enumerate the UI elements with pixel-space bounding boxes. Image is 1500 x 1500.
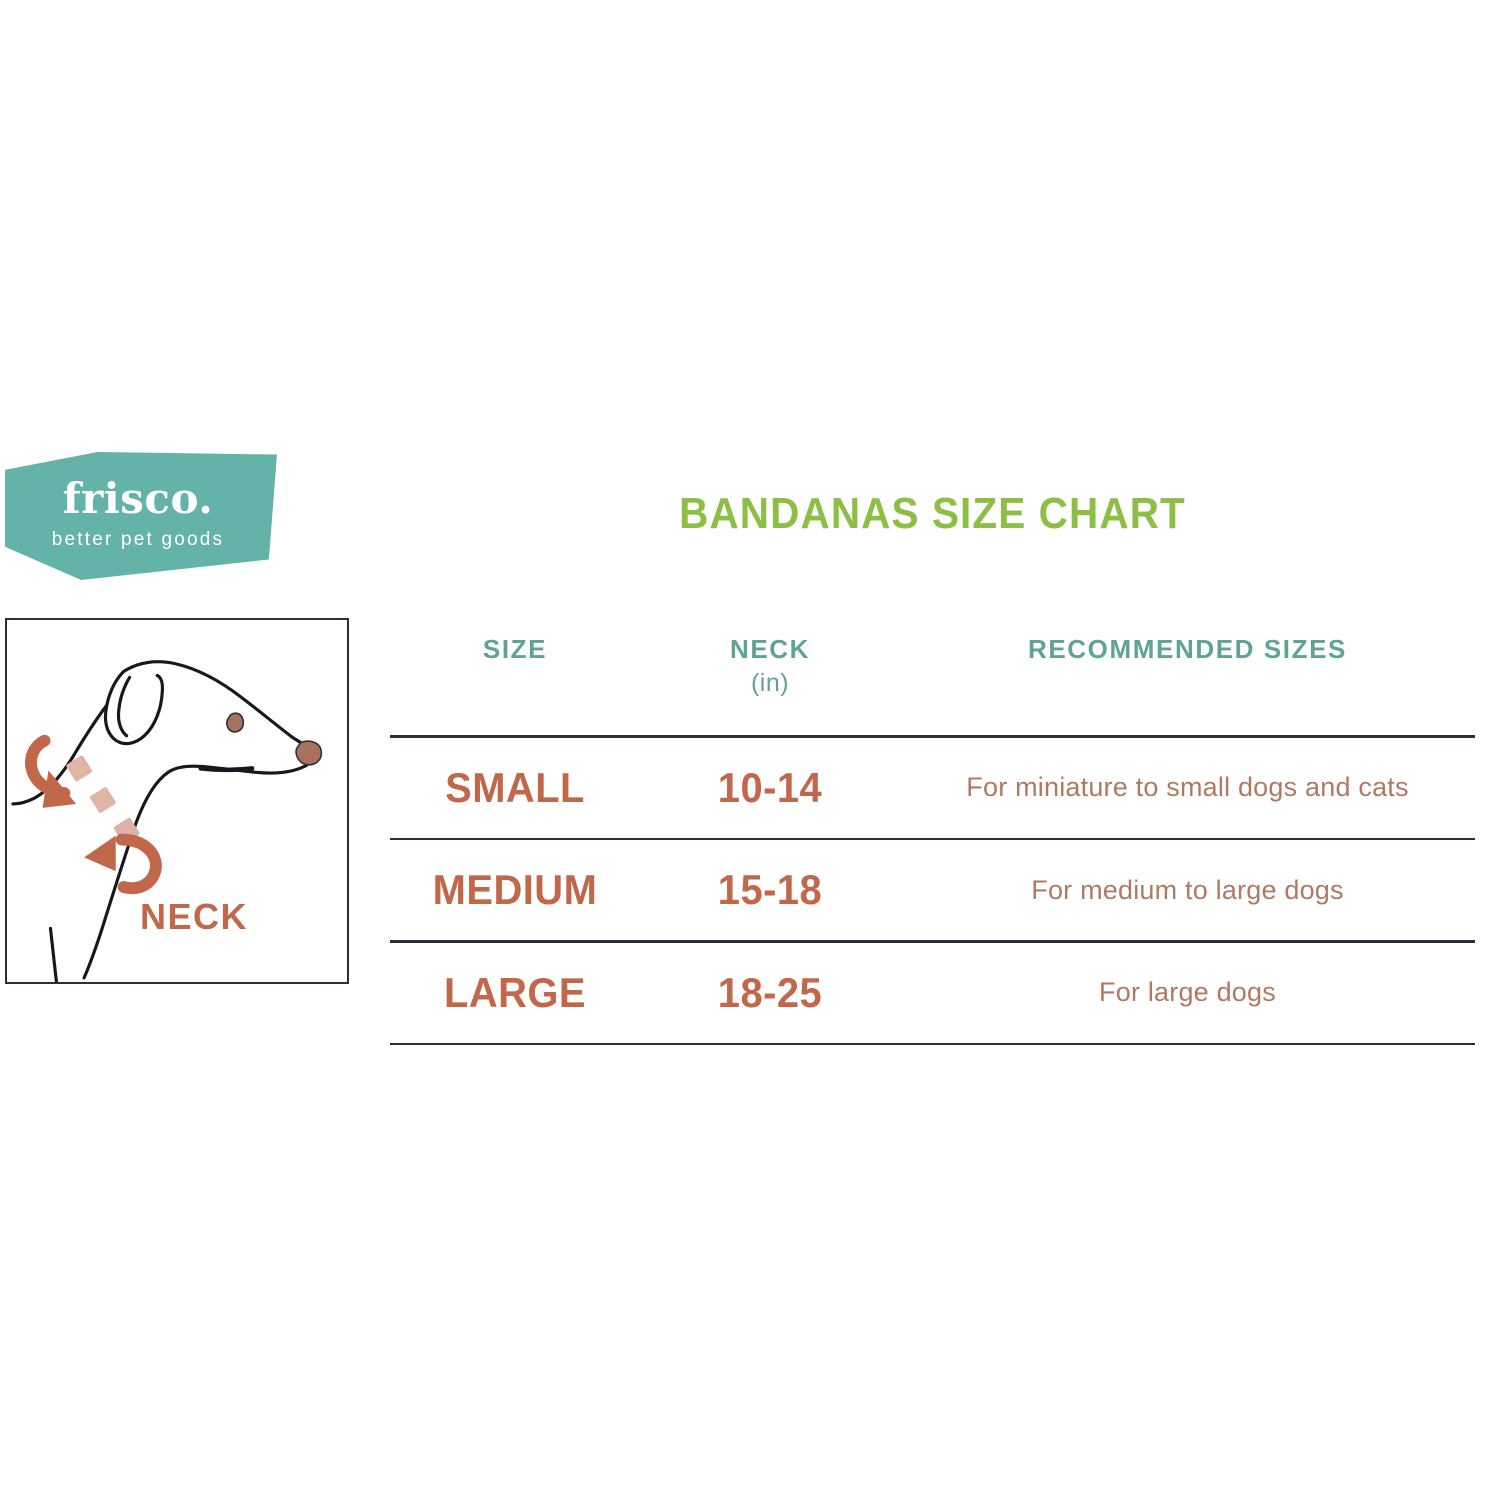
- table-header-row: SIZE NECK (in) RECOMMENDED SIZES: [390, 625, 1475, 735]
- cell-size-small: SMALL: [396, 764, 634, 812]
- table-row: MEDIUM 15-18 For medium to large dogs: [390, 840, 1475, 940]
- cell-neck-medium: 15-18: [647, 866, 894, 914]
- cell-size-large: LARGE: [396, 969, 634, 1017]
- neck-measure-arrowhead-lower: [84, 836, 116, 872]
- dog-neck-measurement-illustration: NECK: [5, 618, 349, 984]
- table-row: LARGE 18-25 For large dogs: [390, 943, 1475, 1043]
- neck-label: NECK: [7, 896, 347, 938]
- logo-tagline: better pet goods: [5, 530, 271, 549]
- table-row: SMALL 10-14 For miniature to small dogs …: [390, 738, 1475, 838]
- dog-eye-icon: [227, 713, 244, 732]
- cell-recommended-large: For large dogs: [900, 977, 1475, 1008]
- size-chart-table: SIZE NECK (in) RECOMMENDED SIZES SMALL 1…: [390, 625, 1475, 1045]
- logo-wordmark: frisco.: [5, 478, 271, 520]
- column-header-neck-label: NECK: [730, 634, 810, 664]
- table-rule-bottom: [390, 1043, 1475, 1046]
- neck-measure-dashes: [66, 755, 141, 845]
- cell-neck-large: 18-25: [647, 969, 894, 1017]
- cell-size-medium: MEDIUM: [396, 866, 634, 914]
- column-header-recommended: RECOMMENDED SIZES: [900, 633, 1475, 666]
- cell-recommended-medium: For medium to large dogs: [900, 875, 1475, 906]
- cell-recommended-small: For miniature to small dogs and cats: [900, 772, 1475, 803]
- brand-logo: frisco. better pet goods: [5, 452, 277, 580]
- column-header-neck-unit: (in): [640, 668, 900, 699]
- column-header-size: SIZE: [390, 633, 640, 666]
- cell-neck-small: 10-14: [647, 764, 894, 812]
- column-header-neck: NECK (in): [640, 633, 900, 699]
- page-title: BANDANAS SIZE CHART: [433, 489, 1431, 539]
- dog-nose-icon: [296, 741, 321, 765]
